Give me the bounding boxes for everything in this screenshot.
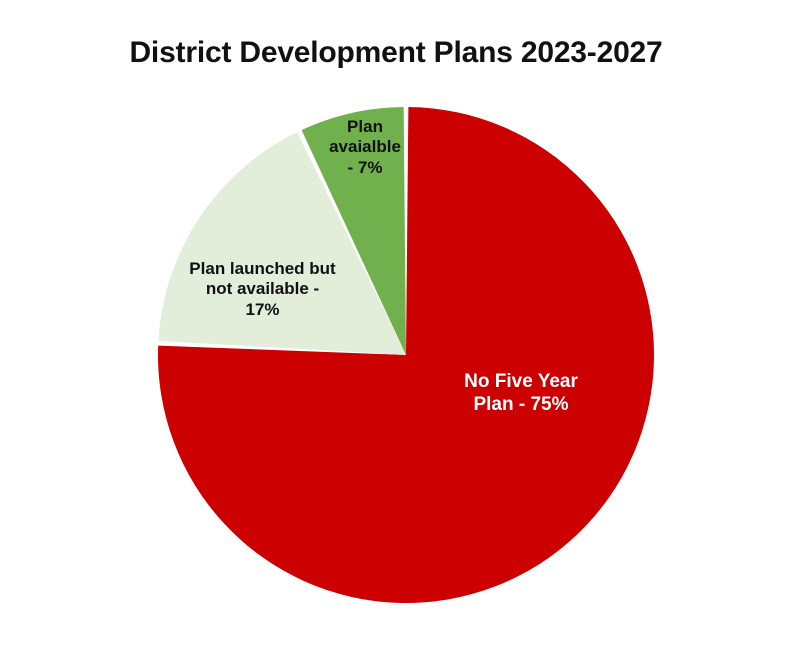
pie-svg	[0, 0, 792, 653]
pie-chart-figure: District Development Plans 2023-2027 Pla…	[0, 0, 792, 653]
pie-plot-area: Plan avaialble - 7% Plan launched but no…	[0, 0, 792, 653]
pie-slices	[158, 107, 654, 603]
